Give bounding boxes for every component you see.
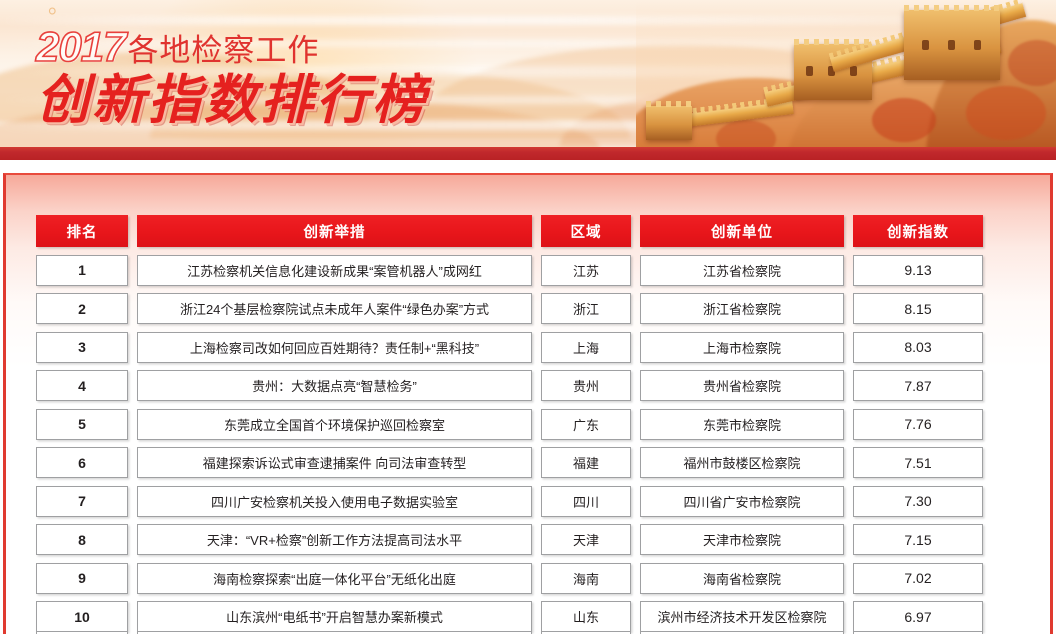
ranking-panel: 排名 创新举措 区域 创新单位 创新指数 1江苏检察机关信息化建设新成果“案管机… — [3, 173, 1053, 634]
table-row: 2浙江24个基层检察院试点未成年人案件“绿色办案”方式浙江浙江省检察院8.15 — [36, 290, 1032, 329]
cell-rank: 9 — [36, 563, 128, 594]
table-row: 1江苏检察机关信息化建设新成果“案管机器人”成网红江苏江苏省检察院9.13 — [36, 251, 1032, 290]
table-row: 8天津：“VR+检察”创新工作方法提高司法水平天津天津市检察院7.15 — [36, 521, 1032, 560]
tower-window — [922, 40, 929, 50]
cell-region: 江苏 — [541, 255, 631, 286]
tower-window — [806, 66, 813, 76]
tower-window — [948, 40, 955, 50]
cell-measure: 浙江24个基层检察院试点未成年人案件“绿色办案”方式 — [137, 293, 532, 324]
cell-unit: 上海市检察院 — [640, 332, 844, 363]
cell-rank: 4 — [36, 370, 128, 401]
cell-unit: 东莞市检察院 — [640, 409, 844, 440]
column-header-index: 创新指数 — [853, 215, 983, 247]
cell-rank: 3 — [36, 332, 128, 363]
column-header-measure: 创新举措 — [137, 215, 532, 247]
wall-tower — [646, 106, 692, 140]
cell-unit: 滨州市经济技术开发区检察院 — [640, 601, 844, 632]
cell-rank: 2 — [36, 293, 128, 324]
cell-unit: 贵州省检察院 — [640, 370, 844, 401]
column-header-unit: 创新单位 — [640, 215, 844, 247]
cell-rank: 8 — [36, 524, 128, 555]
page-title: 创新指数排行榜 — [36, 72, 428, 129]
cell-rank: 1 — [36, 255, 128, 286]
cell-measure: 贵州：大数据点亮“智慧检务” — [137, 370, 532, 401]
table-row: 5东莞成立全国首个环境保护巡回检察室广东东莞市检察院7.76 — [36, 405, 1032, 444]
ranking-table: 排名 创新举措 区域 创新单位 创新指数 1江苏检察机关信息化建设新成果“案管机… — [36, 211, 1032, 634]
cell-rank: 5 — [36, 409, 128, 440]
cell-measure: 山东滨州“电纸书”开启智慧办案新模式 — [137, 601, 532, 632]
cell-measure: 福建探索诉讼式审查逮捕案件 向司法审查转型 — [137, 447, 532, 478]
cell-rank: 6 — [36, 447, 128, 478]
wall-tower — [904, 10, 1000, 80]
great-wall-illustration — [636, 0, 1056, 148]
title-subtitle: 各地检察工作 — [127, 35, 319, 68]
cell-measure: 四川广安检察机关投入使用电子数据实验室 — [137, 486, 532, 517]
cell-unit: 四川省广安市检察院 — [640, 486, 844, 517]
autumn-foliage — [872, 98, 936, 142]
tower-window — [974, 40, 981, 50]
cell-region: 上海 — [541, 332, 631, 363]
cell-index: 7.76 — [853, 409, 983, 440]
title-block: 2017 各地检察工作 创新指数排行榜 — [36, 26, 428, 129]
cell-index: 7.51 — [853, 447, 983, 478]
cell-measure: 天津：“VR+检察”创新工作方法提高司法水平 — [137, 524, 532, 555]
clipped-top-glyph: 。 — [48, 0, 70, 20]
table-row: 6福建探索诉讼式审查逮捕案件 向司法审查转型福建福州市鼓楼区检察院7.51 — [36, 444, 1032, 483]
red-divider-band — [0, 147, 1056, 160]
column-header-region: 区域 — [541, 215, 631, 247]
cell-unit: 浙江省检察院 — [640, 293, 844, 324]
cell-rank: 10 — [36, 601, 128, 632]
cell-index: 7.02 — [853, 563, 983, 594]
divider-white-gap — [0, 160, 1056, 173]
cell-measure: 海南检察探索“出庭一体化平台”无纸化出庭 — [137, 563, 532, 594]
cell-index: 7.15 — [853, 524, 983, 555]
infographic-page: 。 2017 各地检察工作 创新指数排行榜 排名 创新举措 区域 创新单位 创新… — [0, 0, 1056, 634]
title-year: 2017 — [36, 26, 125, 68]
table-header-row: 排名 创新举措 区域 创新单位 创新指数 — [36, 211, 1032, 251]
table-row: 7四川广安检察机关投入使用电子数据实验室四川四川省广安市检察院7.30 — [36, 482, 1032, 521]
cell-region: 福建 — [541, 447, 631, 478]
tower-window — [850, 66, 857, 76]
table-row: 4贵州：大数据点亮“智慧检务”贵州贵州省检察院7.87 — [36, 367, 1032, 406]
banner-header: 。 2017 各地检察工作 创新指数排行榜 — [0, 0, 1056, 148]
table-row: 3上海检察司改如何回应百姓期待？责任制+“黑科技”上海上海市检察院8.03 — [36, 328, 1032, 367]
cell-region: 山东 — [541, 601, 631, 632]
cell-region: 贵州 — [541, 370, 631, 401]
cell-measure: 上海检察司改如何回应百姓期待？责任制+“黑科技” — [137, 332, 532, 363]
cell-measure: 江苏检察机关信息化建设新成果“案管机器人”成网红 — [137, 255, 532, 286]
cell-index: 7.30 — [853, 486, 983, 517]
cell-index: 8.03 — [853, 332, 983, 363]
cell-index: 8.15 — [853, 293, 983, 324]
cell-rank: 7 — [36, 486, 128, 517]
cell-unit: 天津市检察院 — [640, 524, 844, 555]
cell-measure: 东莞成立全国首个环境保护巡回检察室 — [137, 409, 532, 440]
cell-index: 6.97 — [853, 601, 983, 632]
table-row: 9海南检察探索“出庭一体化平台”无纸化出庭海南海南省检察院7.02 — [36, 559, 1032, 598]
cell-index: 9.13 — [853, 255, 983, 286]
cell-region: 浙江 — [541, 293, 631, 324]
cell-unit: 江苏省检察院 — [640, 255, 844, 286]
title-line-upper: 2017 各地检察工作 — [36, 26, 428, 68]
cell-index: 7.87 — [853, 370, 983, 401]
cell-region: 广东 — [541, 409, 631, 440]
cell-unit: 海南省检察院 — [640, 563, 844, 594]
autumn-foliage — [966, 86, 1046, 140]
cell-region: 天津 — [541, 524, 631, 555]
table-row: 10山东滨州“电纸书”开启智慧办案新模式山东滨州市经济技术开发区检察院6.97 — [36, 598, 1032, 634]
cell-unit: 福州市鼓楼区检察院 — [640, 447, 844, 478]
column-header-rank: 排名 — [36, 215, 128, 247]
cell-region: 四川 — [541, 486, 631, 517]
cell-region: 海南 — [541, 563, 631, 594]
